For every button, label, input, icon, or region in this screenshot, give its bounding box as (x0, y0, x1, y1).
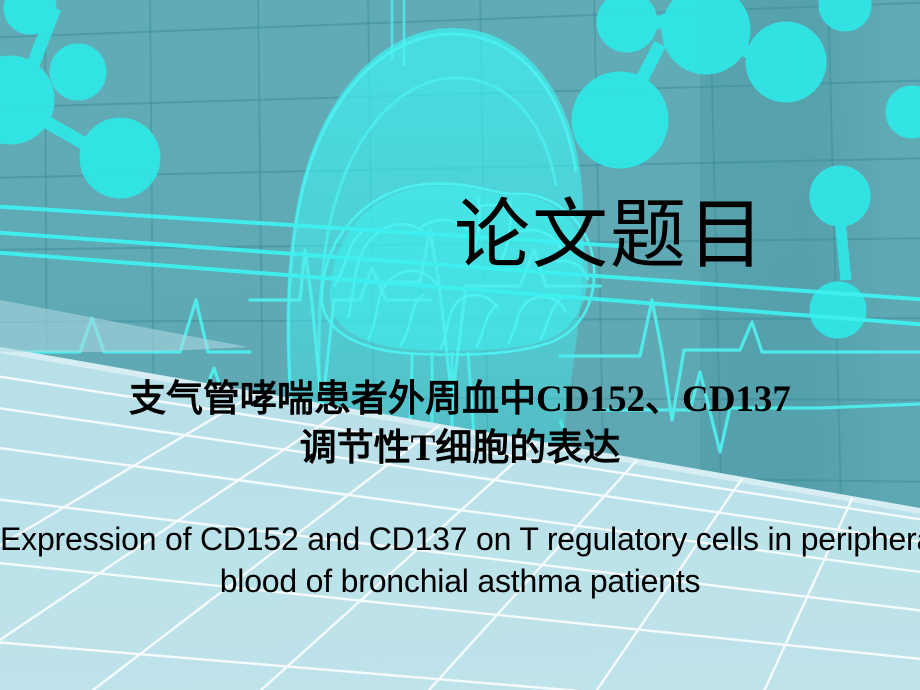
english-subtitle: Expression of CD152 and CD137 on T regul… (0, 518, 920, 602)
chinese-subtitle: 支气管哮喘患者外周血中CD152、CD137 调节性T细胞的表达 (0, 375, 920, 473)
page-title: 论文题目 (0, 198, 920, 274)
chinese-subtitle-line-2: 调节性T细胞的表达 (0, 424, 920, 473)
english-subtitle-line-2: blood of bronchial asthma patients (0, 560, 920, 602)
english-subtitle-line-1: Expression of CD152 and CD137 on T regul… (0, 521, 920, 557)
title-slide: 论文题目 支气管哮喘患者外周血中CD152、CD137 调节性T细胞的表达 Ex… (0, 0, 920, 690)
chinese-subtitle-line-1: 支气管哮喘患者外周血中CD152、CD137 (129, 379, 791, 420)
